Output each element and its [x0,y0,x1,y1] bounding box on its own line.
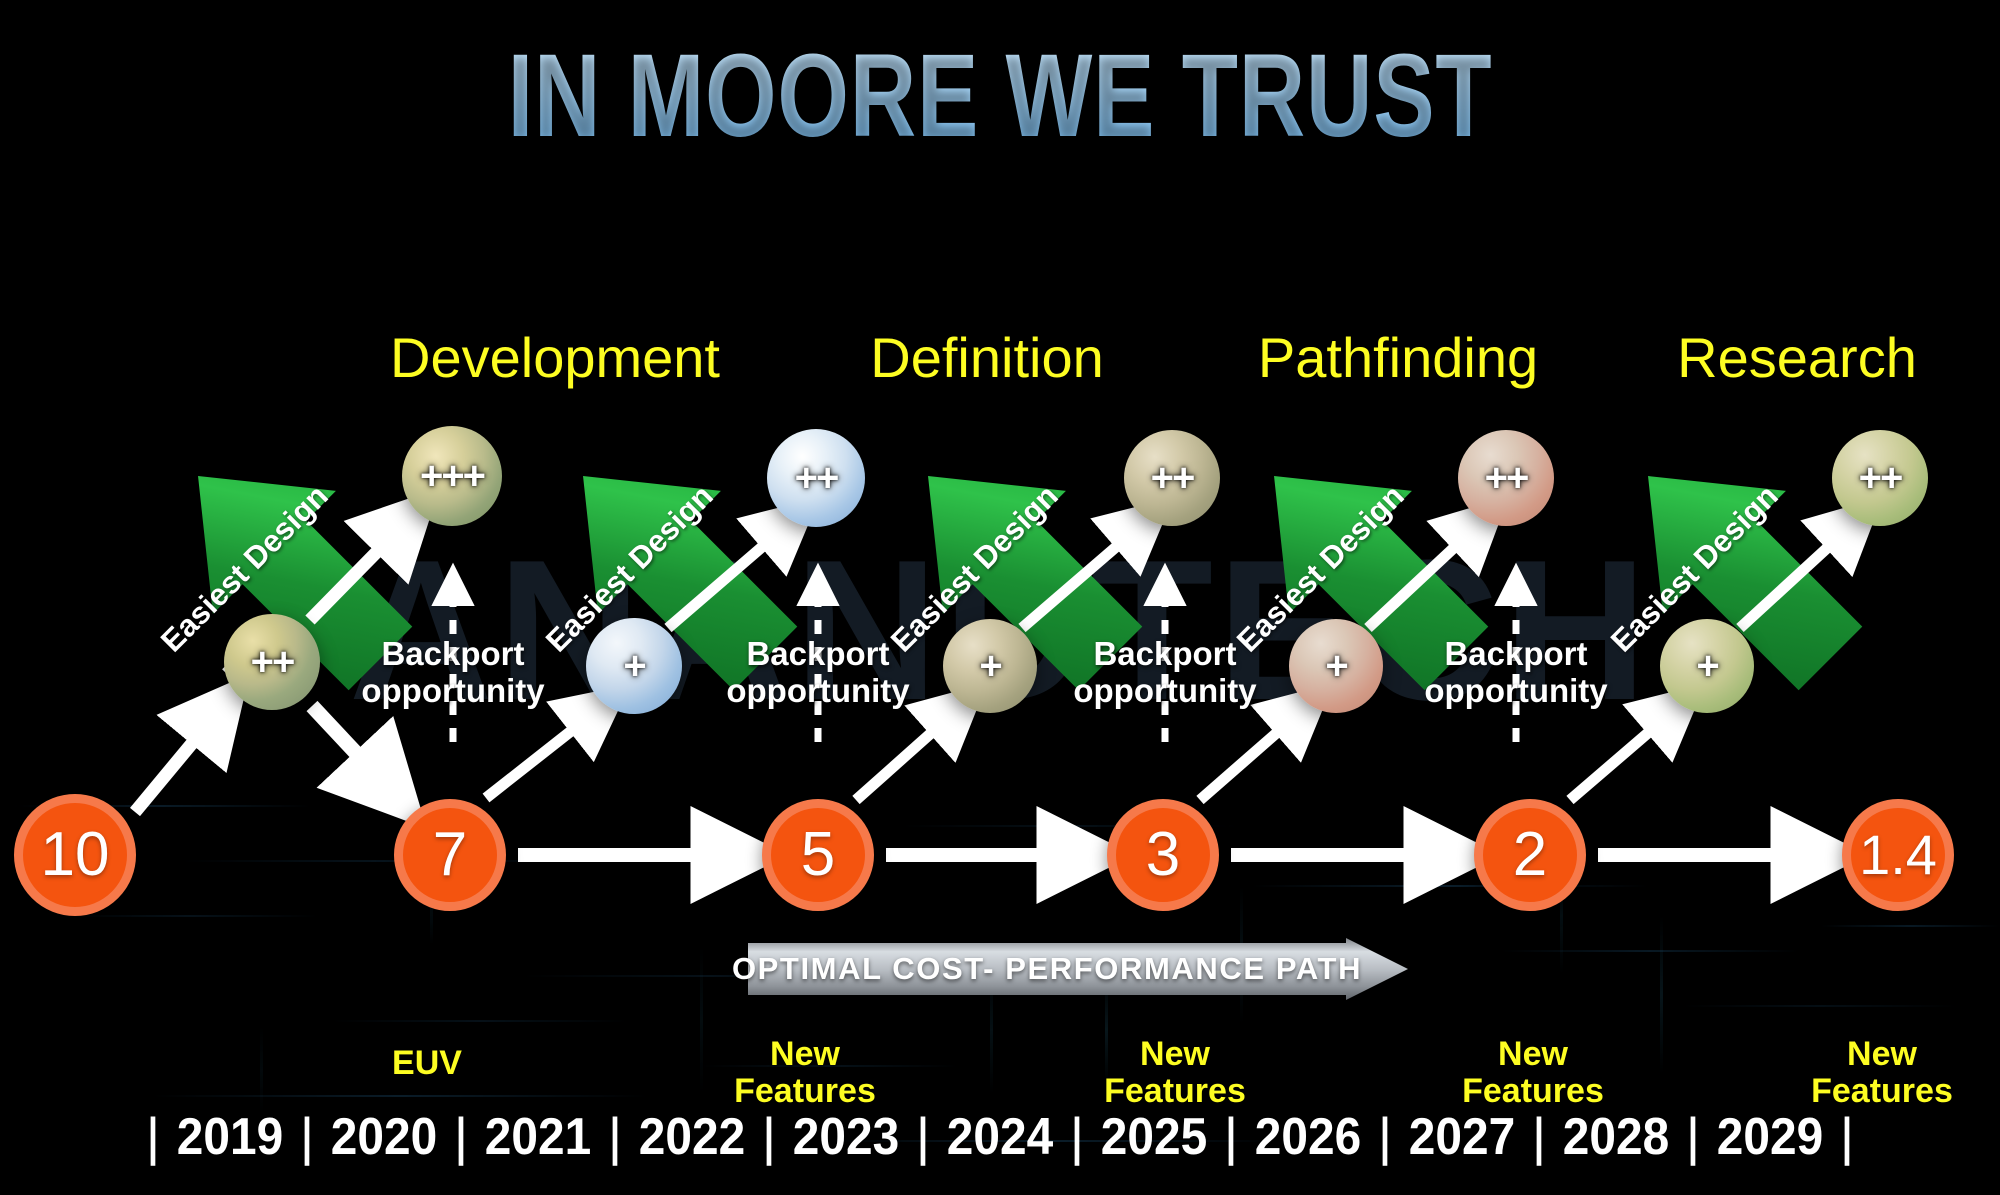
connector-arrow [1200,702,1312,800]
year-axis-tick: | [1529,1107,1549,1167]
connector-arrow [310,512,416,620]
year-axis-tick: | [1067,1107,1087,1167]
year-axis: |2019|2020|2021|2022|2023|2024|2025|2026… [0,1107,2000,1167]
year-label-2021: 2021 [480,1107,596,1167]
year-label-2025: 2025 [1096,1107,1212,1167]
connector-arrow [312,706,400,800]
optimal-cost-performance-banner: OPTIMAL COST- PERFORMANCE PATH [748,938,1408,1000]
backport-line1: Backport [1424,636,1607,673]
process-node-5: 5 [762,799,874,911]
year-axis-tick: | [1375,1107,1395,1167]
year-label-2027: 2027 [1404,1107,1520,1167]
year-axis-tick: | [1837,1107,1857,1167]
feature-caption-line: Features [734,1073,876,1110]
backport-opportunity-label: Backportopportunity [726,636,909,710]
wafer-node: ++ [1124,430,1220,526]
connector-arrow [1368,516,1488,628]
backport-line2: opportunity [1073,673,1256,710]
year-label-2029: 2029 [1712,1107,1828,1167]
feature-caption-line: New [734,1036,876,1073]
feature-caption-line: Features [1811,1073,1953,1110]
year-label-2028: 2028 [1558,1107,1674,1167]
process-node-1.4: 1.4 [1842,799,1954,911]
backport-line1: Backport [1073,636,1256,673]
connector-arrow [135,700,228,812]
connector-arrow [1022,516,1152,628]
process-node-label: 10 [41,824,110,886]
wafer-node: ++ [767,429,865,527]
connector-arrow [856,702,966,800]
page-title: IN MOORE WE TRUST [220,28,1780,164]
process-node-3: 3 [1107,799,1219,911]
wafer-plus-label: + [979,646,1000,686]
backport-line2: opportunity [726,673,909,710]
wafer-node: ++ [1832,430,1928,526]
process-node-7: 7 [394,799,506,911]
year-axis-tick: | [143,1107,163,1167]
wafer-node: ++ [1458,430,1554,526]
process-node-label: 7 [433,824,467,886]
wafer-node: +++ [402,426,502,526]
feature-caption-line: EUV [392,1045,462,1082]
phase-label-development: Development [390,325,720,390]
wafer-plus-label: ++ [1859,458,1902,498]
phase-label-pathfinding: Pathfinding [1258,325,1538,390]
year-axis-tick: | [913,1107,933,1167]
feature-caption: NewFeatures [1104,1036,1246,1111]
wafer-plus-label: ++ [1485,458,1528,498]
wafer-plus-label: ++ [251,642,294,682]
connector-arrow-layer [0,0,2000,1195]
process-node-label: 3 [1146,824,1180,886]
year-label-2019: 2019 [172,1107,288,1167]
backport-line2: opportunity [1424,673,1607,710]
wafer-plus-label: + [623,646,644,686]
feature-caption-line: New [1462,1036,1604,1073]
feature-caption-line: Features [1104,1073,1246,1110]
year-label-2024: 2024 [942,1107,1058,1167]
year-axis-tick: | [1221,1107,1241,1167]
process-node-2: 2 [1474,799,1586,911]
connector-arrow [1570,702,1684,800]
wafer-node: + [1660,619,1754,713]
phase-label-definition: Definition [870,325,1103,390]
connector-arrow [1740,516,1862,628]
feature-caption-line: Features [1462,1073,1604,1110]
wafer-plus-label: ++ [1151,458,1194,498]
year-label-2020: 2020 [326,1107,442,1167]
wafer-plus-label: +++ [420,456,484,496]
wafer-plus-label: + [1696,646,1717,686]
year-axis-tick: | [605,1107,625,1167]
wafer-node: ++ [224,614,320,710]
feature-caption: NewFeatures [734,1036,876,1111]
feature-caption-line: New [1104,1036,1246,1073]
year-label-2023: 2023 [788,1107,904,1167]
process-node-label: 5 [801,824,835,886]
year-label-2026: 2026 [1250,1107,1366,1167]
backport-line2: opportunity [361,673,544,710]
year-axis-tick: | [1683,1107,1703,1167]
wafer-node: + [943,619,1037,713]
connector-arrow [486,702,608,798]
year-axis-tick: | [297,1107,317,1167]
year-axis-tick: | [451,1107,471,1167]
phase-label-research: Research [1677,325,1917,390]
backport-line1: Backport [726,636,909,673]
optimal-path-label: OPTIMAL COST- PERFORMANCE PATH [748,938,1346,1000]
backport-opportunity-label: Backportopportunity [361,636,544,710]
slide-canvas: IN MOORE WE TRUST ANANDTECH DevelopmentD… [0,0,2000,1195]
connector-arrow [668,516,798,628]
wafer-node: + [1289,619,1383,713]
feature-caption: NewFeatures [1811,1036,1953,1111]
year-axis-tick: | [759,1107,779,1167]
process-node-10: 10 [14,794,136,916]
feature-caption: EUV [392,1045,462,1082]
wafer-node: + [586,618,682,714]
backport-line1: Backport [361,636,544,673]
year-label-2022: 2022 [634,1107,750,1167]
process-node-label: 2 [1513,824,1547,886]
backport-opportunity-label: Backportopportunity [1073,636,1256,710]
process-node-label: 1.4 [1859,827,1937,883]
wafer-plus-label: ++ [795,458,838,498]
feature-caption: NewFeatures [1462,1036,1604,1111]
feature-caption-line: New [1811,1036,1953,1073]
backport-opportunity-label: Backportopportunity [1424,636,1607,710]
wafer-plus-label: + [1325,646,1346,686]
